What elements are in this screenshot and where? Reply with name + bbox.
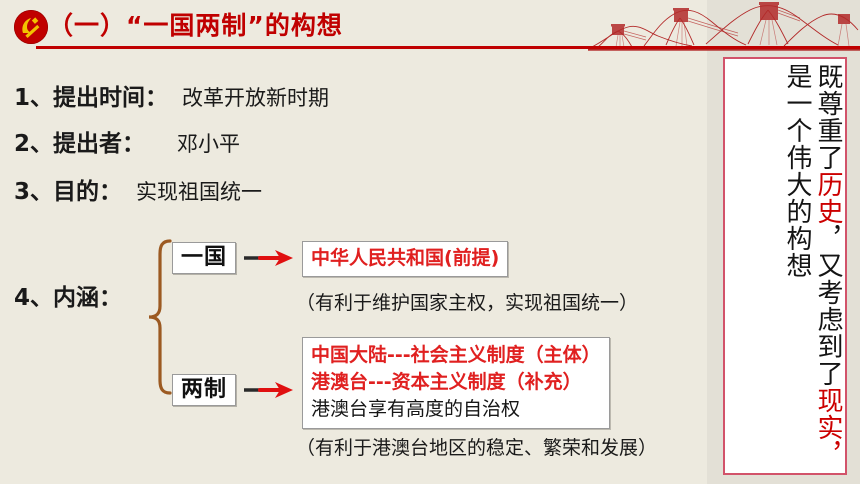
list-item-2-value: 邓小平 (177, 132, 240, 156)
summary-highlight-history: 历史 (813, 171, 843, 225)
list-item-1-label: 1、提出时间： (14, 85, 168, 111)
content-box-liangzhi-line-3: 港澳台享有高度的自治权 (311, 396, 601, 423)
content-box-yiguo-line-1: 中华人民共和国(前提) (311, 245, 499, 272)
note-yiguo: （有利于维护国家主权，实现祖国统一） (296, 288, 638, 315)
list-item-2-label: 2、提出者： (14, 131, 145, 157)
content-box-liangzhi-line-1: 中国大陆---社会主义制度（主体） (311, 342, 601, 369)
slide-header: （一）“一国两制”的构想 (0, 0, 860, 56)
list-item-2: 2、提出者： 邓小平 (14, 124, 240, 158)
curly-brace (146, 238, 172, 396)
list-item-4: 4、内涵： (14, 278, 122, 312)
summary-text-c: ， (813, 441, 843, 468)
content-box-liangzhi-line-2: 港澳台---资本主义制度（补充） (311, 369, 601, 396)
ccp-emblem-icon (14, 10, 48, 44)
content-box-yiguo: 中华人民共和国(前提) (302, 241, 508, 277)
summary-column-left: 是一个伟大的构想 (783, 63, 810, 469)
summary-text-b: ，又考虑到了 (813, 225, 843, 387)
list-item-1-value: 改革开放新时期 (182, 86, 329, 110)
arrow-right-icon-1 (244, 248, 294, 268)
list-item-3-label: 3、目的： (14, 179, 122, 205)
list-item-3: 3、目的： 实现祖国统一 (14, 172, 262, 206)
great-wall-icon (588, 0, 860, 52)
title-divider (36, 46, 860, 49)
hammer-sickle-icon (14, 10, 48, 44)
note-liangzhi: （有利于港澳台地区的稳定、繁荣和发展） (296, 433, 657, 460)
key-box-yiguo: 一国 (172, 242, 236, 274)
list-item-3-value: 实现祖国统一 (136, 180, 262, 204)
arrow-right-icon-2 (244, 380, 294, 400)
slide-canvas: （一）“一国两制”的构想 1、提出时间： 改革开放新时期 2、提出者： 邓小平 … (0, 0, 860, 484)
summary-panel: 既尊重了历史，又考虑到了现实， 是一个伟大的构想 (723, 57, 847, 475)
summary-highlight-reality: 现实 (813, 387, 843, 441)
summary-text-a: 既尊重了 (813, 63, 843, 171)
key-box-liangzhi: 两制 (172, 374, 236, 406)
summary-column-right: 既尊重了历史，又考虑到了现实， (814, 63, 841, 469)
content-box-liangzhi: 中国大陆---社会主义制度（主体） 港澳台---资本主义制度（补充） 港澳台享有… (302, 337, 610, 429)
list-item-4-label: 4、内涵： (14, 285, 122, 311)
list-item-1: 1、提出时间： 改革开放新时期 (14, 78, 329, 112)
page-title: （一）“一国两制”的构想 (48, 6, 343, 42)
